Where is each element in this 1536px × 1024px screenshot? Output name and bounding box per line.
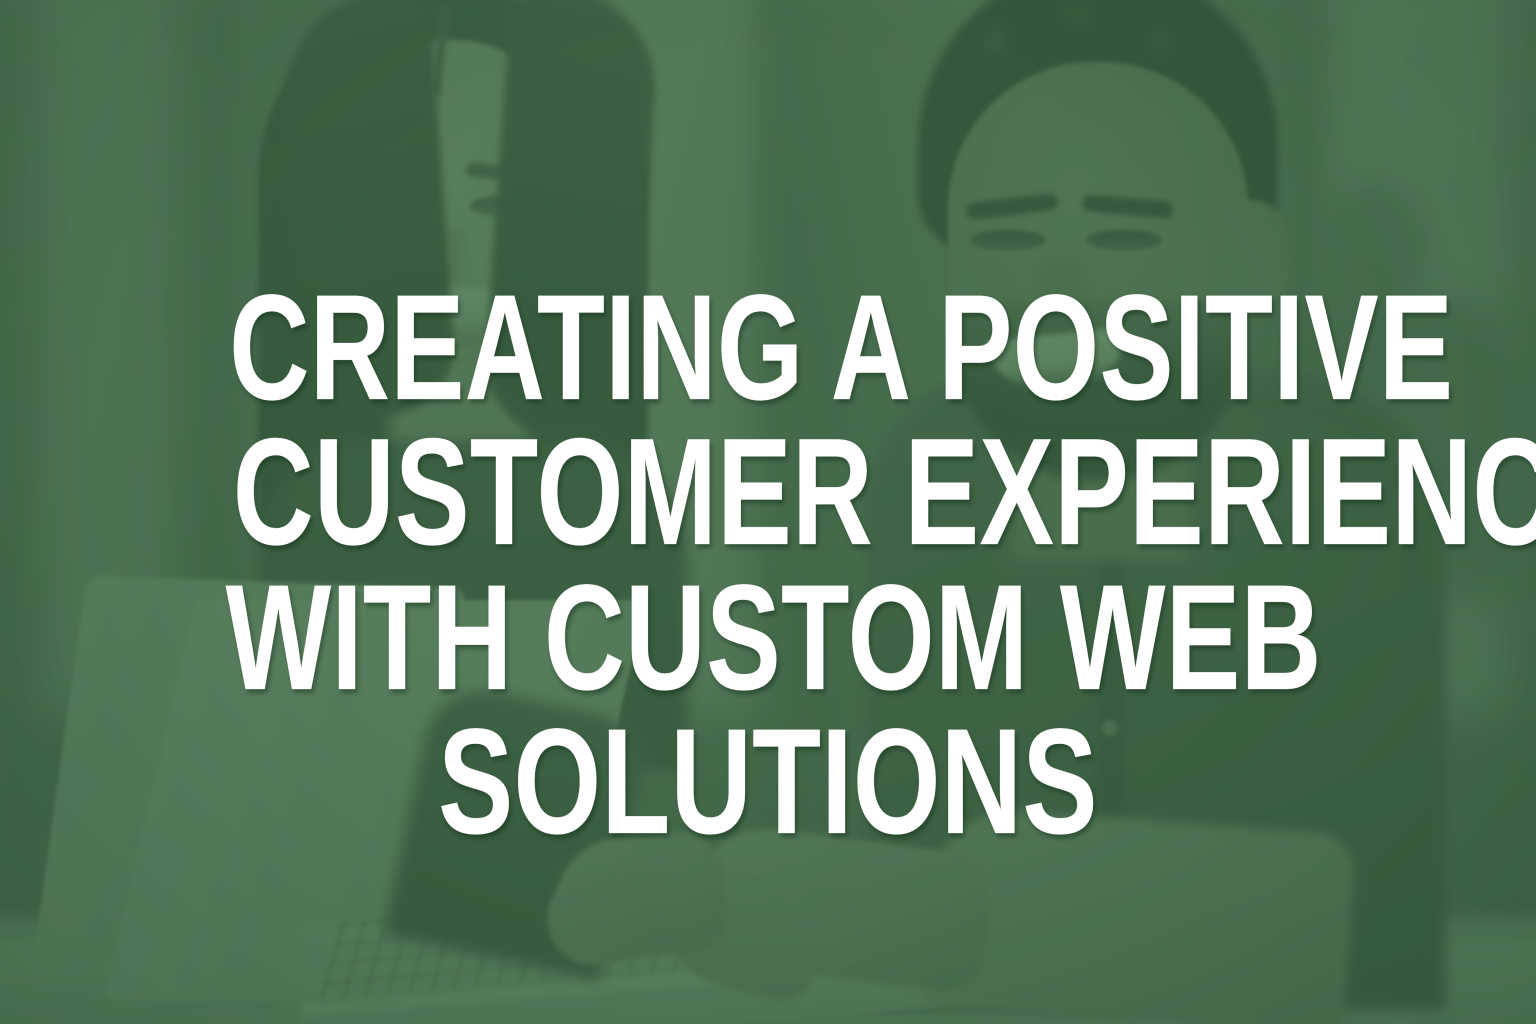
headline-line-4: SOLUTIONS — [222, 706, 1314, 856]
headline-line-3: WITH CUSTOM WEB — [226, 562, 1311, 712]
headline-line-1: CREATING A POSITIVE — [229, 272, 1306, 422]
banner-headline: CREATING A POSITIVE CUSTOMER EXPERIENCE … — [0, 272, 1536, 850]
headline-line-2: CUSTOMER EXPERIENCE — [233, 416, 1303, 568]
article-hero-banner: CREATING A POSITIVE CUSTOMER EXPERIENCE … — [0, 0, 1536, 1024]
